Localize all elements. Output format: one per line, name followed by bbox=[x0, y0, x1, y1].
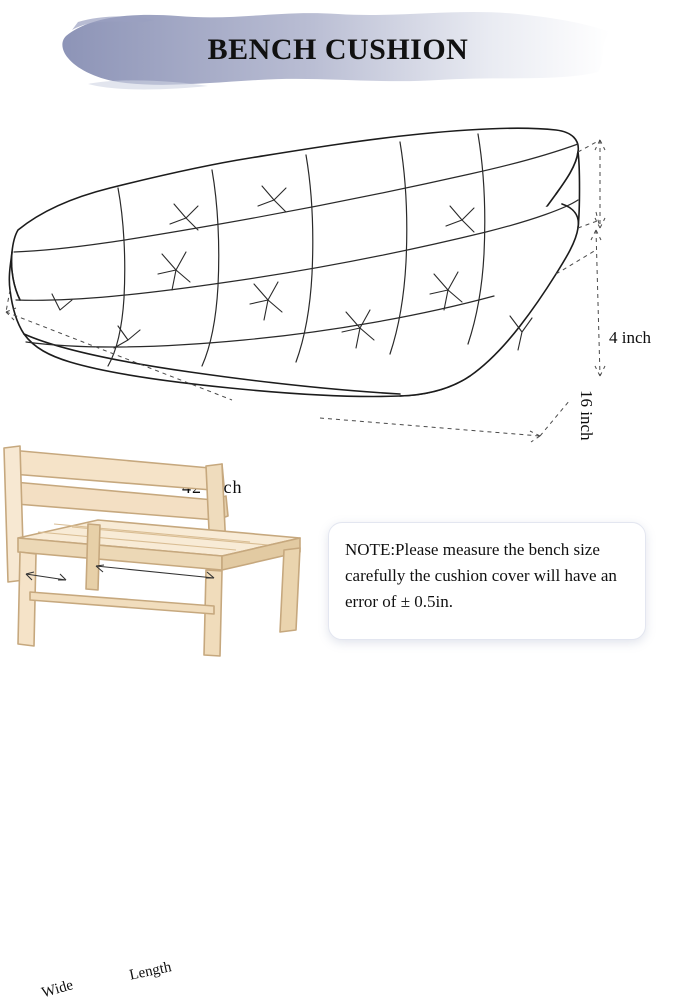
infographic-canvas: BENCH CUSHION bbox=[0, 0, 679, 686]
bench-line-drawing bbox=[0, 420, 330, 670]
cushion-illustration: 4 inch 16 inch 42 inch bbox=[0, 100, 679, 450]
bench-wide-label: Wide bbox=[40, 977, 75, 1002]
note-box: NOTE:Please measure the bench size caref… bbox=[328, 522, 646, 640]
thickness-dimension-label: 4 inch bbox=[609, 328, 651, 348]
bench-illustration: Wide Length bbox=[0, 420, 330, 670]
page-title: BENCH CUSHION bbox=[58, 6, 618, 94]
header-banner: BENCH CUSHION bbox=[58, 6, 618, 94]
note-text: NOTE:Please measure the bench size caref… bbox=[345, 537, 629, 615]
width-dimension-label: 16 inch bbox=[576, 390, 596, 441]
bench-length-label: Length bbox=[128, 959, 173, 984]
